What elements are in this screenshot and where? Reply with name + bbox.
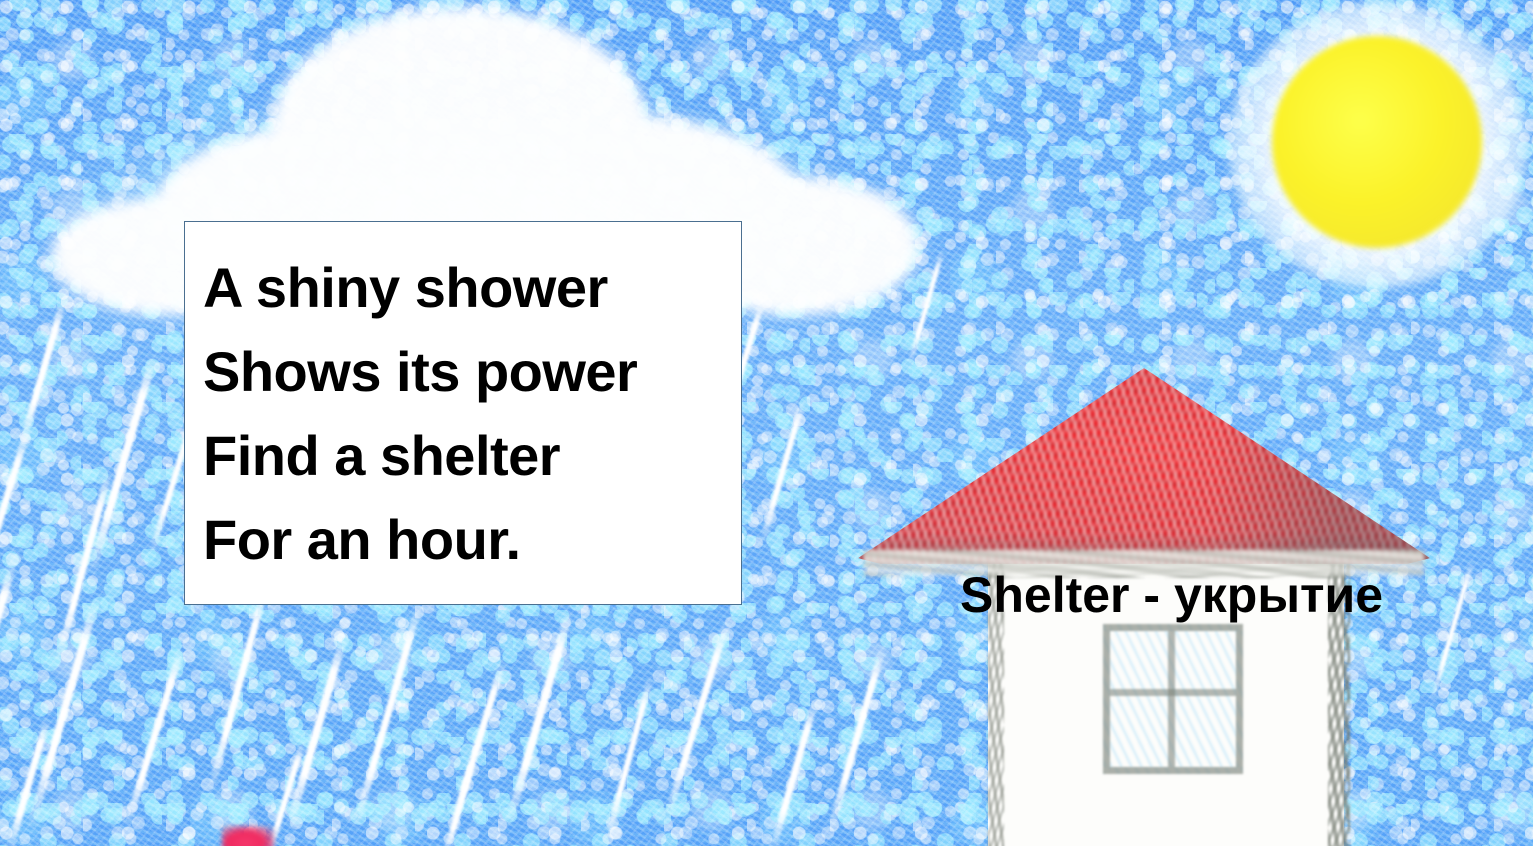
roof-shading xyxy=(858,368,1430,564)
poem-line-3: Find a shelter xyxy=(203,414,741,498)
rain-streak xyxy=(604,675,654,841)
rain-streak xyxy=(351,603,423,831)
rain-streak xyxy=(1429,559,1475,705)
poem-line-1: A shiny shower xyxy=(203,246,741,330)
rain-streak xyxy=(768,699,819,855)
house-window xyxy=(1103,624,1243,774)
house-roof xyxy=(858,368,1430,564)
poem-line-2: Shows its power xyxy=(203,330,741,414)
poem-text-box[interactable]: A shiny shower Shows its power Find a sh… xyxy=(184,221,742,605)
rain-streak xyxy=(826,644,886,833)
rain-streak xyxy=(907,249,945,366)
rain-streak xyxy=(663,619,731,822)
poem-line-4: For an hour. xyxy=(203,498,741,582)
rain-streak xyxy=(504,609,574,827)
rain-streak xyxy=(759,399,806,545)
rain-streak xyxy=(206,585,268,794)
poem-slide: Shelter - укрытие A shiny shower Shows i… xyxy=(0,0,1533,864)
rain-streak xyxy=(87,354,158,577)
bottom-white-strip xyxy=(0,846,1533,864)
rain-streak xyxy=(123,647,185,831)
rain-streak xyxy=(0,559,18,763)
shelter-label: Shelter - укрытие xyxy=(960,565,1383,625)
rain-streak xyxy=(19,299,67,445)
rain-streak xyxy=(285,635,348,829)
rain-streak xyxy=(443,759,476,857)
